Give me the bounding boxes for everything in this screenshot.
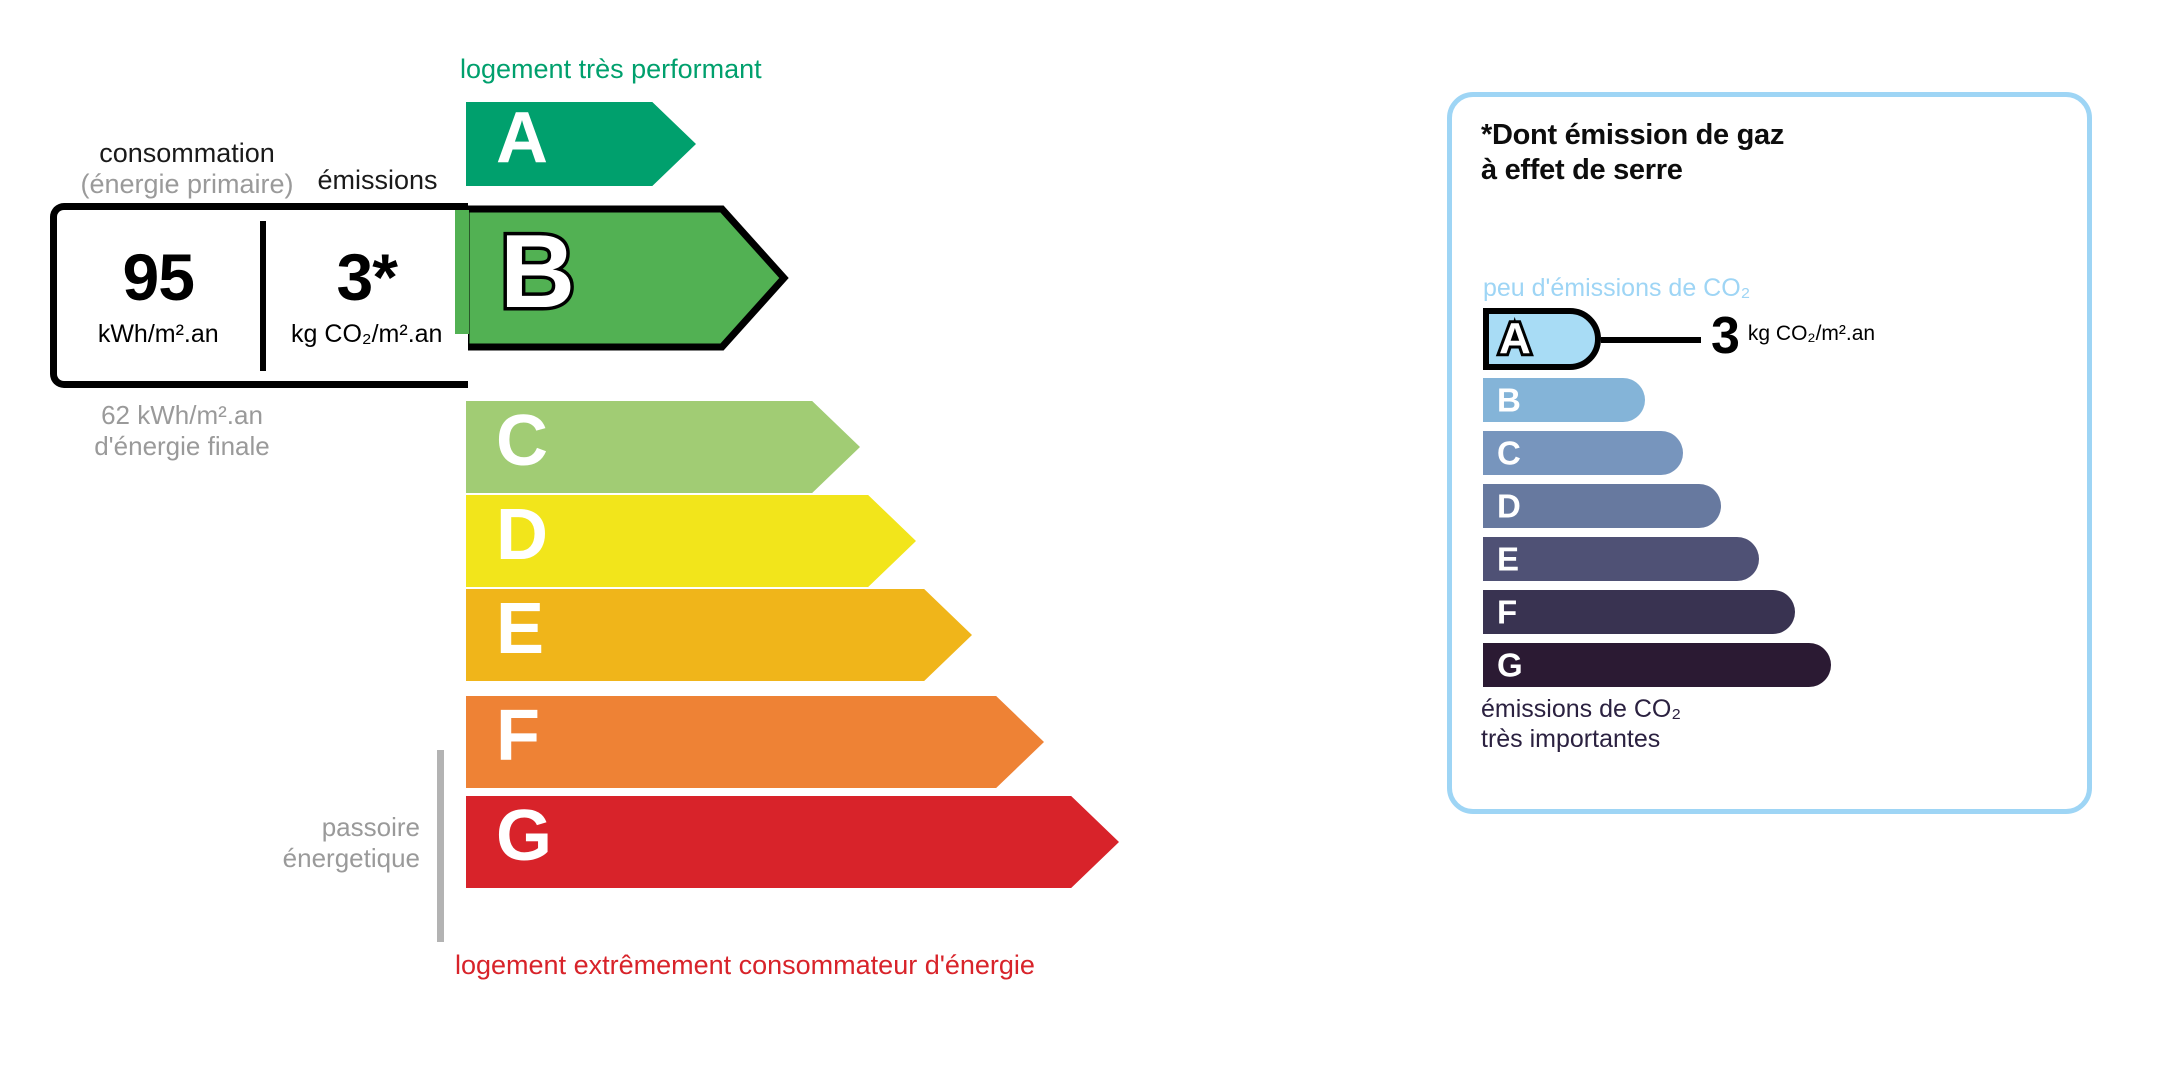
energy-band-a: A xyxy=(460,96,690,180)
energy-band-g: G xyxy=(460,790,1113,882)
co2-value: 3 xyxy=(1711,307,1740,365)
energy-band-e: E xyxy=(460,583,966,675)
co2-row-d: D xyxy=(1483,484,2083,528)
emissions-value-cell: 3* kg CO₂/m².an xyxy=(266,244,469,347)
emissions-unit: kg CO₂/m².an xyxy=(266,322,469,347)
co2-bar-f xyxy=(1483,590,1795,634)
co2-unit: kg CO₂/m².an xyxy=(1748,322,1875,345)
energy-band-letter-a: A xyxy=(496,102,548,174)
energy-band-c: C xyxy=(460,395,854,487)
co2-leader-line xyxy=(1601,337,1701,343)
band-box-join xyxy=(455,210,469,334)
energy-band-letter-d: D xyxy=(496,499,548,571)
co2-row-b: B xyxy=(1483,378,2083,422)
co2-letter-b: B xyxy=(1497,384,1521,417)
co2-caption-low: peu d'émissions de CO₂ xyxy=(1483,274,1750,303)
emissions-value: 3* xyxy=(266,244,469,310)
co2-value-group: 3kg CO₂/m².an xyxy=(1711,310,1875,362)
energy-band-f-shape xyxy=(460,690,1050,794)
energy-band-letter-f: F xyxy=(496,700,540,772)
co2-letter-f: F xyxy=(1497,596,1517,629)
energy-band-b: B xyxy=(460,203,778,341)
co2-bar-e xyxy=(1483,537,1759,581)
energy-band-letter-g: G xyxy=(496,800,552,872)
energy-band-letter-b: B xyxy=(500,220,575,324)
consumption-unit: kWh/m².an xyxy=(57,322,260,347)
energy-band-f: F xyxy=(460,690,1038,782)
co2-letter-e: E xyxy=(1497,543,1519,576)
energy-band-shape xyxy=(466,696,1044,788)
co2-caption-high: émissions de CO₂très importantes xyxy=(1481,694,1881,754)
energy-band-list: ABCDEFG xyxy=(0,0,1400,1010)
co2-row-a: A3kg CO₂/m².an xyxy=(1483,308,2083,370)
co2-row-g: G xyxy=(1483,643,2083,687)
co2-row-e: E xyxy=(1483,537,2083,581)
consumption-value: 95 xyxy=(57,244,260,310)
value-box: 95 kWh/m².an 3* kg CO₂/m².an xyxy=(50,203,468,388)
energy-band-d: D xyxy=(460,489,910,581)
co2-row-f: F xyxy=(1483,590,2083,634)
co2-letter-c: C xyxy=(1497,437,1521,470)
co2-bar-g xyxy=(1483,643,1831,687)
consumption-value-cell: 95 kWh/m².an xyxy=(57,244,260,347)
co2-letter-d: D xyxy=(1497,490,1521,523)
energy-band-g-shape xyxy=(460,790,1125,894)
energy-band-letter-c: C xyxy=(496,405,548,477)
co2-bar-list: A3kg CO₂/m².anBCDEFG xyxy=(1483,308,2083,696)
co2-row-c: C xyxy=(1483,431,2083,475)
energy-band-shape xyxy=(466,796,1119,888)
energy-band-letter-e: E xyxy=(496,593,544,665)
co2-panel-title: *Dont émission de gazà effet de serre xyxy=(1481,118,1901,188)
co2-letter-a: A xyxy=(1499,317,1531,361)
co2-letter-g: G xyxy=(1497,649,1523,682)
